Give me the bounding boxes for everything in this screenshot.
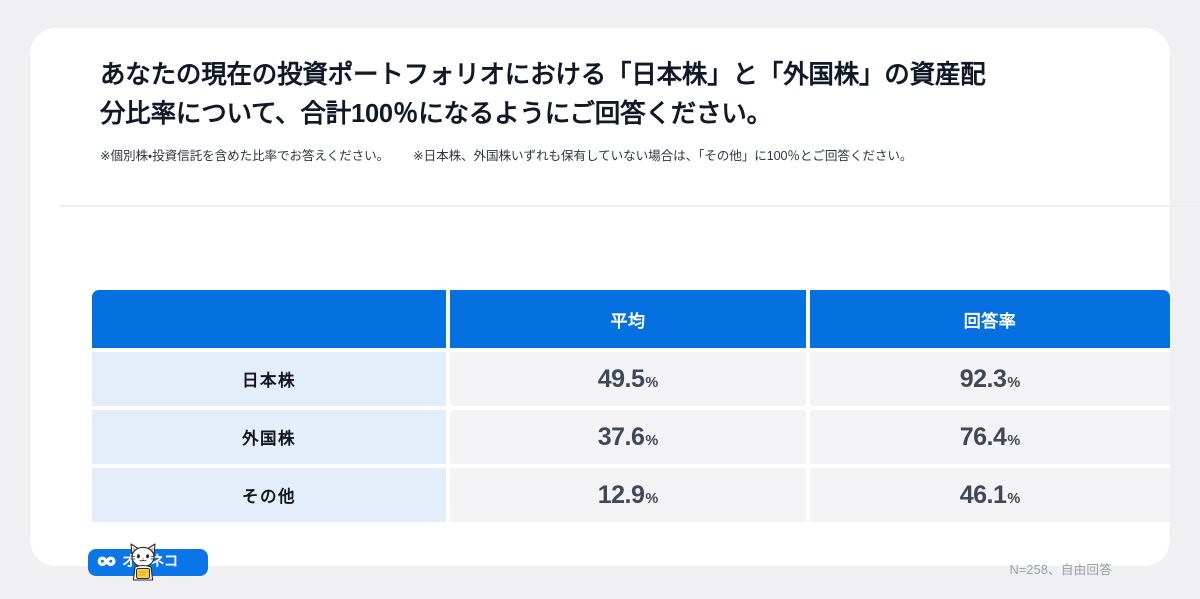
screenshot-root: あなたの現在の投資ポートフォリオにおける「日本株」と「外国株」の資産配 分比率に… bbox=[0, 0, 1200, 599]
row-average-foreign-stocks: 37.6 % bbox=[450, 410, 806, 464]
value-percent-sign: % bbox=[1007, 491, 1020, 507]
value-number: 76.4 bbox=[960, 423, 1007, 452]
value-percent-sign: % bbox=[1007, 375, 1020, 391]
question-block: あなたの現在の投資ポートフォリオにおける「日本株」と「外国株」の資産配 分比率に… bbox=[100, 56, 1130, 165]
infinity-glasses-icon bbox=[97, 554, 117, 572]
value-number: 37.6 bbox=[598, 423, 645, 452]
value-percent-sign: % bbox=[1007, 433, 1020, 449]
value-number: 92.3 bbox=[960, 365, 1007, 394]
row-average-other: 12.9 % bbox=[450, 468, 806, 522]
value-percent-sign: % bbox=[645, 433, 658, 449]
value-group: 37.6 % bbox=[598, 423, 659, 452]
value-number: 46.1 bbox=[960, 481, 1007, 510]
value-percent-sign: % bbox=[645, 491, 658, 507]
result-card: あなたの現在の投資ポートフォリオにおける「日本株」と「外国株」の資産配 分比率に… bbox=[30, 28, 1170, 566]
note-item-2: ※日本株、外国株いずれも保有していない場合は、「その他」に100％とご回答くださ… bbox=[413, 148, 912, 166]
row-label-japanese-stocks: 日本株 bbox=[92, 352, 446, 406]
value-group: 92.3 % bbox=[960, 365, 1021, 394]
value-number: 12.9 bbox=[598, 481, 645, 510]
value-number: 49.5 bbox=[598, 365, 645, 394]
value-group: 12.9 % bbox=[598, 481, 659, 510]
note-item-1: ※個別株・投資信託を含めた比率でお答えください。 bbox=[100, 148, 389, 166]
table-header-cell-rate: 回答率 bbox=[810, 290, 1170, 348]
row-label-foreign-stocks: 外国株 bbox=[92, 410, 446, 464]
value-percent-sign: % bbox=[645, 375, 658, 391]
row-average-japanese-stocks: 49.5 % bbox=[450, 352, 806, 406]
results-table: 平均 回答率 日本株 49.5 % 92.3 % bbox=[92, 290, 1170, 522]
page-title: あなたの現在の投資ポートフォリオにおける「日本株」と「外国株」の資産配 分比率に… bbox=[100, 56, 1130, 134]
table-header-cell-label bbox=[92, 290, 446, 348]
row-rate-japanese-stocks: 92.3 % bbox=[810, 352, 1170, 406]
table-row: 外国株 37.6 % 76.4 % bbox=[92, 410, 1170, 464]
cat-mascot-icon bbox=[126, 541, 160, 581]
sample-size-note: N=258、自由回答 bbox=[1010, 559, 1112, 578]
value-group: 49.5 % bbox=[598, 365, 659, 394]
table-header-row: 平均 回答率 bbox=[92, 290, 1170, 348]
value-group: 76.4 % bbox=[960, 423, 1021, 452]
value-group: 46.1 % bbox=[960, 481, 1021, 510]
row-label-other: その他 bbox=[92, 468, 446, 522]
section-divider bbox=[60, 205, 1200, 207]
table-row: 日本株 49.5 % 92.3 % bbox=[92, 352, 1170, 406]
row-rate-other: 46.1 % bbox=[810, 468, 1170, 522]
table-header-cell-average: 平均 bbox=[450, 290, 806, 348]
table-row: その他 12.9 % 46.1 % bbox=[92, 468, 1170, 522]
row-rate-foreign-stocks: 76.4 % bbox=[810, 410, 1170, 464]
note-list: ※個別株・投資信託を含めた比率でお答えください。 ※日本株、外国株いずれも保有し… bbox=[100, 148, 1130, 166]
